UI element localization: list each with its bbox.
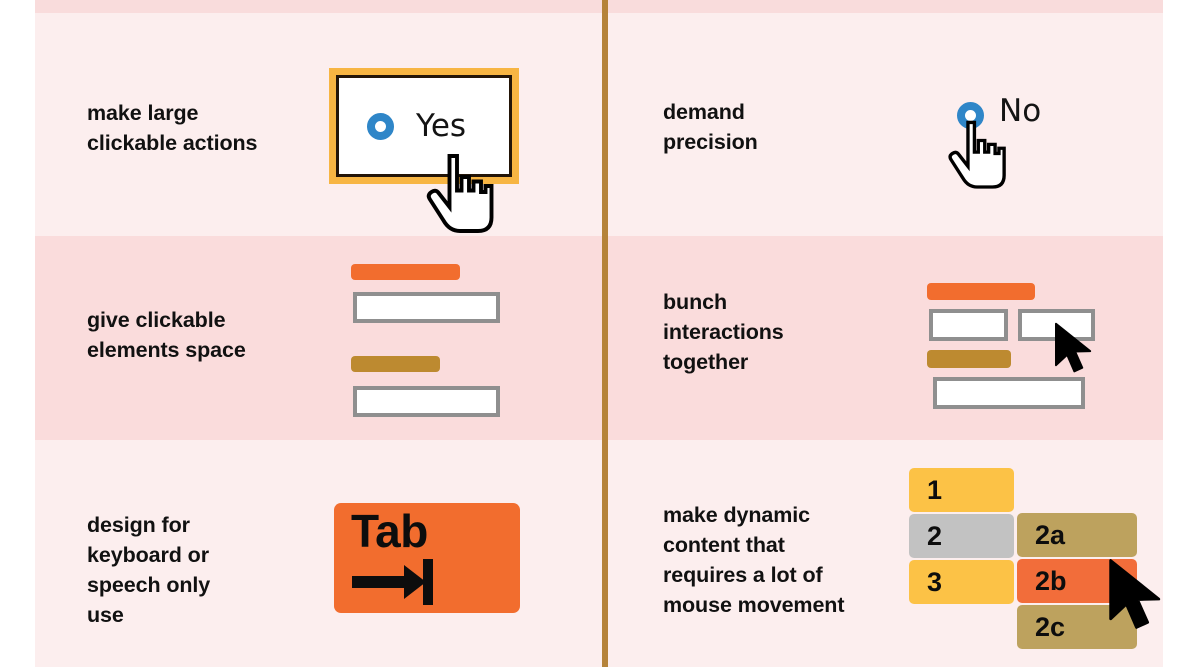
row-1-left-label: make large clickable actions	[87, 98, 327, 158]
row-2-right-label: bunch interactions together	[663, 287, 913, 377]
arrow-pointer-cursor-icon	[1105, 558, 1167, 639]
comparison-grid: make large clickable actions Yes demand …	[0, 0, 1200, 667]
text-input-field[interactable]	[929, 309, 1008, 341]
form-label-bar-orange	[351, 264, 460, 280]
form-label-bar-orange	[927, 283, 1035, 300]
hand-pointer-cursor-icon	[946, 117, 1008, 200]
submenu-item-2a[interactable]: 2a	[1017, 513, 1137, 557]
arrow-pointer-cursor-icon	[1052, 322, 1096, 381]
radio-selected-icon	[367, 113, 394, 140]
menu-item-1[interactable]: 1	[909, 468, 1014, 512]
row-2-left-label: give clickable elements space	[87, 305, 347, 365]
row-3-left-label: design for keyboard or speech only use	[87, 510, 327, 630]
column-divider	[602, 0, 608, 667]
text-input-field[interactable]	[933, 377, 1085, 409]
form-label-bar-gold	[927, 350, 1011, 368]
row-3-right-label: make dynamic content that requires a lot…	[663, 500, 943, 620]
form-label-bar-gold	[351, 356, 440, 372]
tab-key-label: Tab	[351, 507, 428, 555]
text-input-field[interactable]	[353, 292, 500, 323]
hand-pointer-cursor-icon	[424, 150, 496, 245]
menu-item-3[interactable]: 3	[909, 560, 1014, 604]
row-band-top-edge	[35, 0, 1163, 13]
yes-option-label: Yes	[416, 111, 466, 142]
menu-item-2[interactable]: 2	[909, 514, 1014, 558]
tab-arrow-icon	[352, 559, 444, 605]
tab-key-button[interactable]: Tab	[334, 503, 520, 613]
row-1-right-label: demand precision	[663, 97, 893, 157]
text-input-field[interactable]	[353, 386, 500, 417]
